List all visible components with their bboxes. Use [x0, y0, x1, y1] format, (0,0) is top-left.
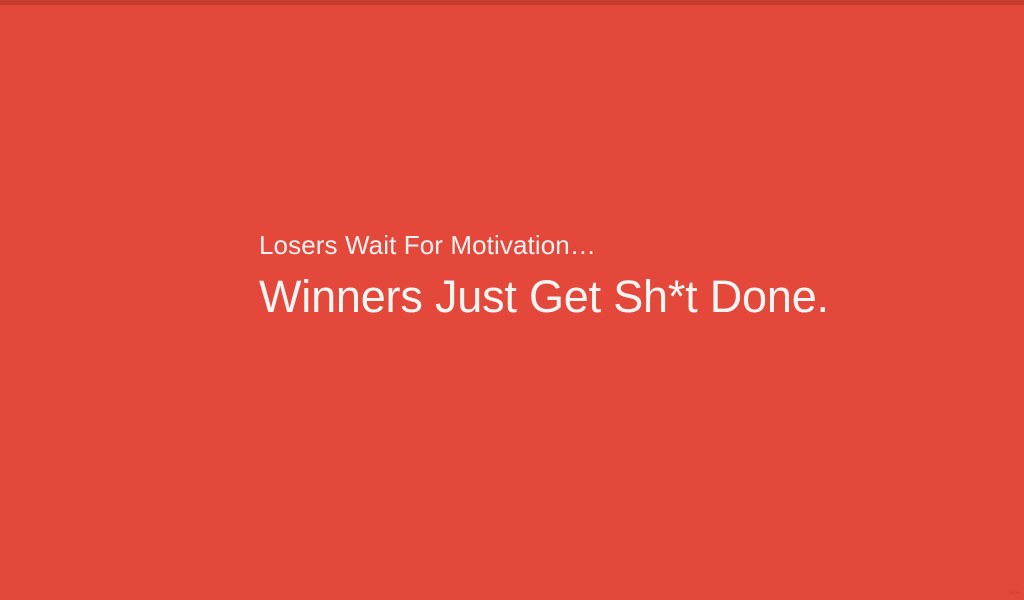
- quote-block: Losers Wait For Motivation… Winners Just…: [259, 228, 959, 324]
- quote-slide: Losers Wait For Motivation… Winners Just…: [0, 0, 1024, 600]
- top-accent-band: [0, 0, 1024, 5]
- quote-subtitle: Losers Wait For Motivation…: [259, 228, 959, 262]
- corner-watermark: Anel: [1009, 590, 1020, 597]
- quote-headline: Winners Just Get Sh*t Done.: [259, 270, 959, 324]
